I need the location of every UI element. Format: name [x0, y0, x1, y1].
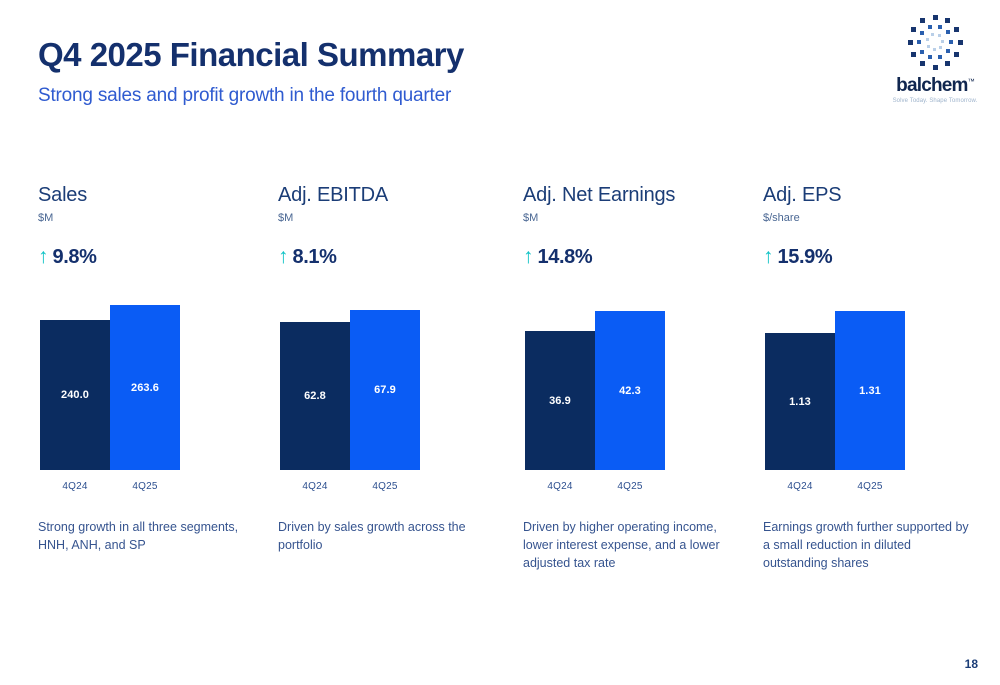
x-axis-tick: 4Q25 — [350, 481, 420, 492]
metric-title: Adj. EPS — [763, 184, 841, 207]
metric-note: Driven by higher operating income, lower… — [523, 518, 738, 572]
x-axis-tick: 4Q25 — [595, 481, 665, 492]
metric-panel-adj-net-earnings: Adj. Net Earnings $M ↑ 14.8% 36.9 42.3 4… — [523, 178, 763, 598]
metric-unit: $M — [38, 212, 53, 224]
bar-prior: 240.0 — [40, 320, 110, 470]
bar-current: 1.31 — [835, 311, 905, 470]
bar-value-label: 240.0 — [61, 389, 89, 401]
balchem-radial-dots-icon — [904, 12, 966, 72]
bar-prior: 62.8 — [280, 322, 350, 470]
metric-unit: $/share — [763, 212, 800, 224]
bar-value-label: 36.9 — [549, 395, 571, 407]
metric-unit: $M — [278, 212, 293, 224]
bar-prior: 1.13 — [765, 333, 835, 470]
logo-wordmark: balchem™ — [882, 76, 988, 95]
x-axis-tick: 4Q25 — [110, 481, 180, 492]
bar-current: 67.9 — [350, 310, 420, 470]
metric-change: ↑ 8.1% — [278, 246, 337, 269]
bar-value-label: 1.13 — [789, 396, 811, 408]
metric-panel-adj-eps: Adj. EPS $/share ↑ 15.9% 1.13 1.31 4Q24 … — [763, 178, 1000, 598]
logo-trademark: ™ — [968, 79, 974, 86]
metric-note: Strong growth in all three segments, HNH… — [38, 518, 253, 554]
bar-chart-plot: 62.8 67.9 — [278, 282, 518, 470]
metric-panel-adj-ebitda: Adj. EBITDA $M ↑ 8.1% 62.8 67.9 4Q24 4Q2… — [278, 178, 518, 598]
metric-change-value: 15.9% — [778, 246, 833, 269]
metric-note: Earnings growth further supported by a s… — [763, 518, 979, 572]
bar-value-label: 62.8 — [304, 390, 326, 402]
bar-chart-plot: 1.13 1.31 — [763, 282, 1000, 470]
bar-chart-plot: 240.0 263.6 — [38, 282, 278, 470]
metric-title: Adj. EBITDA — [278, 184, 388, 207]
bar-current: 42.3 — [595, 311, 665, 470]
x-axis-tick: 4Q24 — [40, 481, 110, 492]
x-axis-tick: 4Q24 — [525, 481, 595, 492]
metric-change-value: 9.8% — [53, 246, 97, 269]
bar-chart: 240.0 263.6 4Q24 4Q25 — [38, 282, 278, 494]
bar-value-label: 42.3 — [619, 385, 641, 397]
bar-value-label: 263.6 — [131, 382, 159, 394]
metric-change: ↑ 9.8% — [38, 246, 97, 269]
x-axis-tick: 4Q25 — [835, 481, 905, 492]
arrow-up-icon: ↑ — [763, 246, 774, 267]
metric-title: Adj. Net Earnings — [523, 184, 675, 207]
company-logo: balchem™ Solve Today. Shape Tomorrow. — [882, 12, 988, 104]
arrow-up-icon: ↑ — [523, 246, 534, 267]
metric-change: ↑ 14.8% — [523, 246, 592, 269]
x-axis-tick: 4Q24 — [280, 481, 350, 492]
bar-chart: 62.8 67.9 4Q24 4Q25 — [278, 282, 518, 494]
metric-change-value: 8.1% — [293, 246, 337, 269]
logo-tagline: Solve Today. Shape Tomorrow. — [882, 98, 988, 104]
metric-change: ↑ 15.9% — [763, 246, 832, 269]
bar-current: 263.6 — [110, 305, 180, 470]
metric-unit: $M — [523, 212, 538, 224]
bar-chart: 1.13 1.31 4Q24 4Q25 — [763, 282, 1000, 494]
page-number: 18 — [965, 657, 978, 671]
page-title: Q4 2025 Financial Summary — [38, 36, 464, 74]
bar-chart-plot: 36.9 42.3 — [523, 282, 763, 470]
metric-title: Sales — [38, 184, 87, 207]
x-axis-tick: 4Q24 — [765, 481, 835, 492]
page-subtitle: Strong sales and profit growth in the fo… — [38, 85, 451, 107]
metric-panel-sales: Sales $M ↑ 9.8% 240.0 263.6 4Q24 4Q25 St… — [38, 178, 278, 598]
bar-value-label: 67.9 — [374, 384, 396, 396]
metric-note: Driven by sales growth across the portfo… — [278, 518, 493, 554]
logo-wordmark-text: balchem — [896, 75, 968, 96]
bar-chart: 36.9 42.3 4Q24 4Q25 — [523, 282, 763, 494]
arrow-up-icon: ↑ — [38, 246, 49, 267]
arrow-up-icon: ↑ — [278, 246, 289, 267]
metric-panels: Sales $M ↑ 9.8% 240.0 263.6 4Q24 4Q25 St… — [0, 178, 1000, 598]
metric-change-value: 14.8% — [538, 246, 593, 269]
bar-value-label: 1.31 — [859, 385, 881, 397]
bar-prior: 36.9 — [525, 331, 595, 470]
